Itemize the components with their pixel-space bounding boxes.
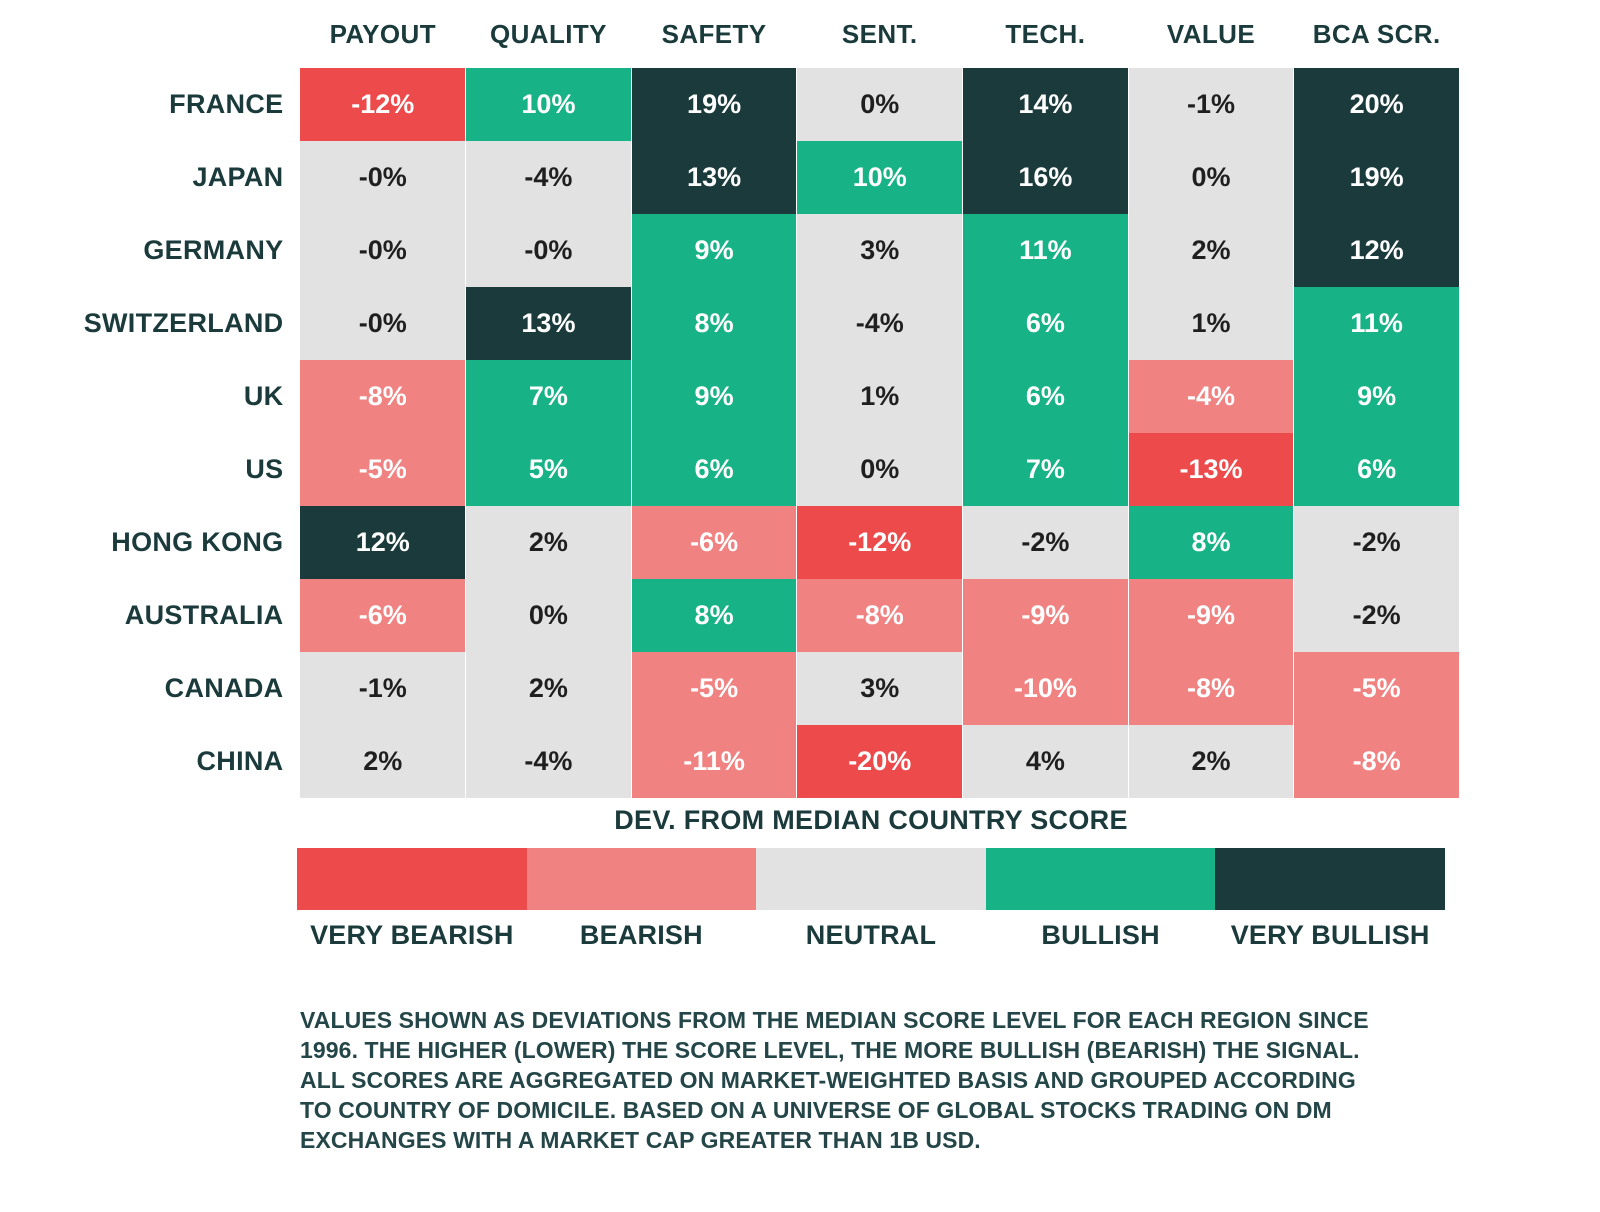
- heatmap-row: AUSTRALIA-6%0%8%-8%-9%-9%-2%: [0, 579, 1460, 652]
- heatmap-cell: 13%: [466, 287, 632, 360]
- heatmap-cell: 16%: [963, 141, 1129, 214]
- heatmap-row: JAPAN-0%-4%13%10%16%0%19%: [0, 141, 1460, 214]
- heatmap-cell: 6%: [963, 360, 1129, 433]
- heatmap-cell: -2%: [1294, 506, 1460, 579]
- legend-label-bearish: BEARISH: [527, 920, 757, 951]
- column-header: QUALITY: [466, 0, 632, 68]
- heatmap-cell: 4%: [963, 725, 1129, 798]
- heatmap-row: UK-8%7%9%1%6%-4%9%: [0, 360, 1460, 433]
- heatmap-row: US-5%5%6%0%7%-13%6%: [0, 433, 1460, 506]
- heatmap-cell: 3%: [797, 652, 963, 725]
- heatmap-page: PAYOUTQUALITYSAFETYSENT.TECH.VALUEBCA SC…: [0, 0, 1600, 1212]
- heatmap-cell: -8%: [1128, 652, 1294, 725]
- heatmap-cell: 2%: [466, 652, 632, 725]
- heatmap-cell: -6%: [631, 506, 797, 579]
- heatmap-cell: 5%: [466, 433, 632, 506]
- row-header-japan: JAPAN: [0, 141, 300, 214]
- heatmap-cell: -0%: [300, 214, 466, 287]
- heatmap-row: FRANCE-12%10%19%0%14%-1%20%: [0, 68, 1460, 141]
- heatmap-cell: 10%: [466, 68, 632, 141]
- heatmap-cell: 9%: [631, 360, 797, 433]
- legend-color-bar: [297, 848, 1445, 910]
- heatmap-cell: -6%: [300, 579, 466, 652]
- row-header-france: FRANCE: [0, 68, 300, 141]
- heatmap-row: SWITZERLAND-0%13%8%-4%6%1%11%: [0, 287, 1460, 360]
- heatmap-cell: 0%: [797, 68, 963, 141]
- heatmap-cell: 1%: [797, 360, 963, 433]
- heatmap-cell: -8%: [797, 579, 963, 652]
- legend-label-very-bullish: VERY BULLISH: [1215, 920, 1445, 951]
- heatmap-cell: 6%: [1294, 433, 1460, 506]
- legend-label-bullish: BULLISH: [986, 920, 1216, 951]
- heatmap-cell: 20%: [1294, 68, 1460, 141]
- heatmap-body: FRANCE-12%10%19%0%14%-1%20%JAPAN-0%-4%13…: [0, 68, 1460, 798]
- row-header-germany: GERMANY: [0, 214, 300, 287]
- row-header-switzerland: SWITZERLAND: [0, 287, 300, 360]
- row-header-us: US: [0, 433, 300, 506]
- heatmap-cell: -10%: [963, 652, 1129, 725]
- heatmap-cell: -0%: [300, 287, 466, 360]
- heatmap-cell: 2%: [1128, 725, 1294, 798]
- footnote-text: VALUES SHOWN AS DEVIATIONS FROM THE MEDI…: [300, 1005, 1460, 1155]
- heatmap-cell: -8%: [1294, 725, 1460, 798]
- heatmap-cell: -5%: [631, 652, 797, 725]
- heatmap-cell: -1%: [1128, 68, 1294, 141]
- heatmap-cell: 2%: [300, 725, 466, 798]
- heatmap-cell: 7%: [963, 433, 1129, 506]
- heatmap-cell: -20%: [797, 725, 963, 798]
- legend-swatch-bearish: [527, 848, 757, 910]
- table-corner-cell: [0, 0, 300, 68]
- heatmap-cell: 19%: [1294, 141, 1460, 214]
- heatmap-cell: 0%: [466, 579, 632, 652]
- heatmap-cell: -12%: [797, 506, 963, 579]
- heatmap-cell: 6%: [963, 287, 1129, 360]
- row-header-australia: AUSTRALIA: [0, 579, 300, 652]
- legend-swatch-very-bearish: [297, 848, 527, 910]
- heatmap-cell: 8%: [631, 287, 797, 360]
- column-header: SENT.: [797, 0, 963, 68]
- heatmap-cell: -0%: [300, 141, 466, 214]
- heatmap-cell: -9%: [963, 579, 1129, 652]
- column-header: TECH.: [963, 0, 1129, 68]
- column-header: BCA SCR.: [1294, 0, 1460, 68]
- heatmap-cell: 7%: [466, 360, 632, 433]
- column-header: VALUE: [1128, 0, 1294, 68]
- scale-caption: DEV. FROM MEDIAN COUNTRY SCORE: [297, 805, 1445, 836]
- heatmap-row: GERMANY-0%-0%9%3%11%2%12%: [0, 214, 1460, 287]
- heatmap-cell: 0%: [1128, 141, 1294, 214]
- heatmap-cell: 9%: [1294, 360, 1460, 433]
- heatmap-cell: -4%: [466, 725, 632, 798]
- legend-swatch-bullish: [986, 848, 1216, 910]
- heatmap-cell: -11%: [631, 725, 797, 798]
- heatmap-cell: -9%: [1128, 579, 1294, 652]
- country-score-heatmap-table: PAYOUTQUALITYSAFETYSENT.TECH.VALUEBCA SC…: [0, 0, 1460, 798]
- heatmap-header-row: PAYOUTQUALITYSAFETYSENT.TECH.VALUEBCA SC…: [0, 0, 1460, 68]
- footnote-line: EXCHANGES WITH A MARKET CAP GREATER THAN…: [300, 1125, 1460, 1155]
- footnote-line: ALL SCORES ARE AGGREGATED ON MARKET-WEIG…: [300, 1065, 1460, 1095]
- heatmap-cell: 8%: [1128, 506, 1294, 579]
- heatmap-cell: 1%: [1128, 287, 1294, 360]
- heatmap-cell: 2%: [466, 506, 632, 579]
- heatmap-cell: 0%: [797, 433, 963, 506]
- heatmap-cell: 3%: [797, 214, 963, 287]
- heatmap-cell: -0%: [466, 214, 632, 287]
- column-header: PAYOUT: [300, 0, 466, 68]
- heatmap-cell: 6%: [631, 433, 797, 506]
- legend-swatch-neutral: [756, 848, 986, 910]
- heatmap-cell: 11%: [1294, 287, 1460, 360]
- row-header-hong-kong: HONG KONG: [0, 506, 300, 579]
- heatmap-cell: -1%: [300, 652, 466, 725]
- legend-label-row: VERY BEARISHBEARISHNEUTRALBULLISHVERY BU…: [297, 920, 1445, 951]
- heatmap-cell: 9%: [631, 214, 797, 287]
- heatmap-cell: 11%: [963, 214, 1129, 287]
- heatmap-cell: 2%: [1128, 214, 1294, 287]
- heatmap-cell: 8%: [631, 579, 797, 652]
- heatmap-cell: 12%: [300, 506, 466, 579]
- color-scale-legend: VERY BEARISHBEARISHNEUTRALBULLISHVERY BU…: [297, 848, 1445, 951]
- heatmap-row: CANADA-1%2%-5%3%-10%-8%-5%: [0, 652, 1460, 725]
- heatmap-cell: 12%: [1294, 214, 1460, 287]
- heatmap-cell: -13%: [1128, 433, 1294, 506]
- column-header: SAFETY: [631, 0, 797, 68]
- heatmap-cell: 19%: [631, 68, 797, 141]
- heatmap-cell: 14%: [963, 68, 1129, 141]
- heatmap-cell: -5%: [1294, 652, 1460, 725]
- row-header-uk: UK: [0, 360, 300, 433]
- heatmap-cell: -4%: [466, 141, 632, 214]
- heatmap-row: CHINA2%-4%-11%-20%4%2%-8%: [0, 725, 1460, 798]
- legend-label-neutral: NEUTRAL: [756, 920, 986, 951]
- heatmap-cell: -8%: [300, 360, 466, 433]
- heatmap-cell: -2%: [1294, 579, 1460, 652]
- footnote-line: TO COUNTRY OF DOMICILE. BASED ON A UNIVE…: [300, 1095, 1460, 1125]
- heatmap-cell: 10%: [797, 141, 963, 214]
- footnote-line: VALUES SHOWN AS DEVIATIONS FROM THE MEDI…: [300, 1005, 1460, 1035]
- heatmap-cell: -4%: [1128, 360, 1294, 433]
- heatmap-cell: 13%: [631, 141, 797, 214]
- heatmap-cell: -4%: [797, 287, 963, 360]
- heatmap-container: PAYOUTQUALITYSAFETYSENT.TECH.VALUEBCA SC…: [0, 0, 1600, 798]
- heatmap-row: HONG KONG12%2%-6%-12%-2%8%-2%: [0, 506, 1460, 579]
- legend-label-very-bearish: VERY BEARISH: [297, 920, 527, 951]
- heatmap-cell: -12%: [300, 68, 466, 141]
- footnote-line: 1996. THE HIGHER (LOWER) THE SCORE LEVEL…: [300, 1035, 1460, 1065]
- legend-swatch-very-bullish: [1215, 848, 1445, 910]
- row-header-china: CHINA: [0, 725, 300, 798]
- heatmap-cell: -2%: [963, 506, 1129, 579]
- heatmap-cell: -5%: [300, 433, 466, 506]
- row-header-canada: CANADA: [0, 652, 300, 725]
